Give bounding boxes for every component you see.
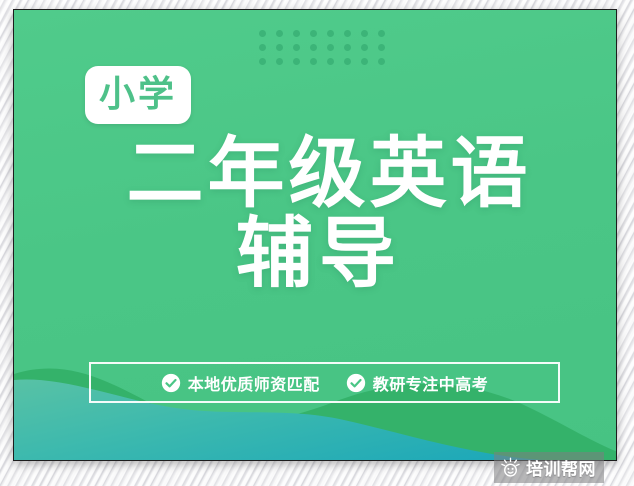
feature-label: 教研专注中高考 xyxy=(373,371,489,395)
grid-dot xyxy=(293,44,300,51)
grid-dot xyxy=(327,44,334,51)
grid-dot xyxy=(310,30,317,37)
grid-dot xyxy=(310,44,317,51)
page-background: 小学 二年级英语 辅导 xyxy=(0,0,634,486)
grid-dot xyxy=(327,30,334,37)
feature-highlight-box: 本地优质师资匹配 教研专注中高考 xyxy=(89,362,560,403)
grid-dot xyxy=(293,58,300,65)
grid-dot xyxy=(259,58,266,65)
course-poster-card: 小学 二年级英语 辅导 xyxy=(13,9,617,461)
grid-dot xyxy=(361,44,368,51)
grid-dot xyxy=(259,44,266,51)
grid-dot xyxy=(276,30,283,37)
grid-dot xyxy=(276,44,283,51)
grid-dot xyxy=(259,30,266,37)
grid-dot xyxy=(327,58,334,65)
poster-title-line2: 辅导 xyxy=(14,216,617,293)
grid-dot xyxy=(378,58,385,65)
dot-grid-decoration xyxy=(259,30,395,72)
watermark-label: 培训帮网 xyxy=(526,455,596,480)
site-watermark: 培训帮网 xyxy=(494,452,604,483)
check-circle-icon xyxy=(346,373,366,393)
grid-dot xyxy=(361,30,368,37)
poster-title-line1: 二年级英语 xyxy=(14,138,617,212)
grid-dot xyxy=(310,58,317,65)
grid-dot xyxy=(276,58,283,65)
grid-dot xyxy=(344,44,351,51)
grid-dot xyxy=(344,58,351,65)
grade-badge: 小学 xyxy=(85,66,191,124)
feature-item-1: 教研专注中高考 xyxy=(346,371,489,395)
grid-dot xyxy=(293,30,300,37)
grid-dot xyxy=(378,30,385,37)
feature-label: 本地优质师资匹配 xyxy=(188,371,320,395)
grid-dot xyxy=(344,30,351,37)
grade-badge-label: 小学 xyxy=(99,77,177,113)
feature-item-0: 本地优质师资匹配 xyxy=(161,371,320,395)
poster-title: 二年级英语 辅导 xyxy=(14,138,617,293)
sun-face-logo-icon xyxy=(500,457,521,478)
grid-dot xyxy=(378,44,385,51)
grid-dot xyxy=(361,58,368,65)
check-circle-icon xyxy=(161,373,181,393)
